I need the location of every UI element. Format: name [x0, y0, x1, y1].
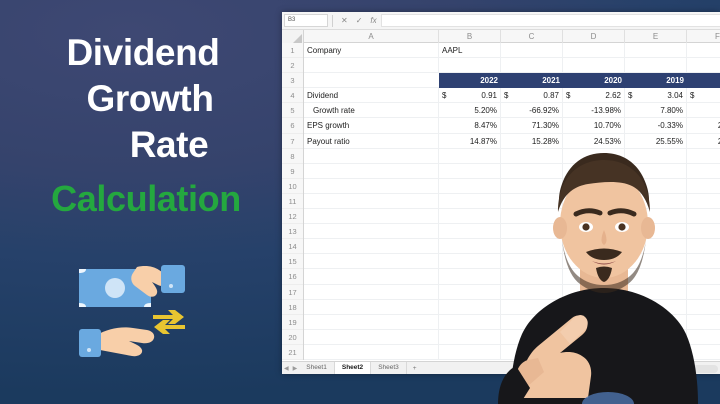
name-box[interactable]: B3 — [284, 14, 328, 27]
cell-f6[interactable]: 29.31% — [687, 118, 720, 133]
formula-input[interactable] — [381, 14, 720, 27]
cell-b6[interactable]: 8.47% — [439, 118, 501, 133]
cell-a2[interactable] — [304, 58, 439, 73]
row-header[interactable]: 8 — [282, 149, 303, 164]
row-header[interactable]: 13 — [282, 224, 303, 239]
currency-symbol: $ — [442, 88, 446, 103]
column-header-row: A B C D E F — [282, 30, 720, 43]
cell-e6[interactable]: -0.33% — [625, 118, 687, 133]
row-header[interactable]: 4 — [282, 88, 303, 103]
row-header[interactable]: 12 — [282, 209, 303, 224]
select-all-corner[interactable] — [282, 30, 304, 43]
cell-b2[interactable] — [439, 58, 501, 73]
cell-c4[interactable]: $ 0.87 — [501, 88, 563, 103]
cell-empty[interactable] — [304, 149, 439, 164]
cell-a1[interactable]: Company — [304, 43, 439, 58]
cell-e1[interactable] — [625, 43, 687, 58]
row-header[interactable]: 19 — [282, 315, 303, 330]
title-line-3: Rate — [0, 122, 282, 168]
currency-symbol: $ — [628, 88, 632, 103]
cell-f7[interactable]: 23.03% — [687, 134, 720, 149]
cell-b5[interactable]: 5.20% — [439, 103, 501, 118]
row-header[interactable]: 5 — [282, 103, 303, 118]
cell-empty[interactable] — [304, 285, 439, 300]
cell-value: 2.82 — [690, 88, 720, 103]
row-header[interactable]: 10 — [282, 179, 303, 194]
cell-e7[interactable]: 25.55% — [625, 134, 687, 149]
row-header[interactable]: 15 — [282, 254, 303, 269]
row-header[interactable]: 9 — [282, 164, 303, 179]
table-row: Dividend $ 0.91 $ 0.87 $ 2.62 $ 3.04 — [304, 88, 720, 103]
cell-empty[interactable] — [304, 269, 439, 284]
tab-nav-next-icon[interactable]: ▶ — [291, 365, 300, 372]
cell-f4[interactable]: $ 2.82 — [687, 88, 720, 103]
currency-symbol: $ — [566, 88, 570, 103]
cell-c5[interactable]: -66.92% — [501, 103, 563, 118]
cell-a6[interactable]: EPS growth — [304, 118, 439, 133]
cell-empty[interactable] — [304, 194, 439, 209]
formula-bar[interactable]: B3 ✕ ✓ fx — [282, 12, 720, 30]
row-header[interactable]: 20 — [282, 330, 303, 345]
cell-a4[interactable]: Dividend — [304, 88, 439, 103]
cell-value: 0.87 — [504, 88, 559, 103]
column-header-b[interactable]: B — [439, 30, 501, 43]
add-sheet-button[interactable]: + — [407, 365, 423, 372]
cell-e3[interactable]: 2019 — [625, 73, 687, 88]
presenter-image — [488, 148, 720, 404]
cell-empty[interactable] — [304, 209, 439, 224]
cell-b7[interactable]: 14.87% — [439, 134, 501, 149]
column-header-f[interactable]: F — [687, 30, 720, 43]
cell-empty[interactable] — [304, 224, 439, 239]
title-accent-line: Calculation — [0, 176, 282, 222]
cell-a5[interactable]: Growth rate — [304, 103, 439, 118]
cell-e2[interactable] — [625, 58, 687, 73]
cancel-icon[interactable]: ✕ — [337, 17, 352, 25]
row-header[interactable]: 7 — [282, 134, 303, 149]
row-header[interactable]: 16 — [282, 269, 303, 284]
sheet-tab-2[interactable]: Sheet2 — [335, 362, 371, 374]
cell-empty[interactable] — [304, 330, 439, 345]
confirm-icon[interactable]: ✓ — [352, 17, 367, 25]
row-header[interactable]: 1 — [282, 43, 303, 58]
cell-d6[interactable]: 10.70% — [563, 118, 625, 133]
table-row-year-header: 2022 2021 2020 2019 2018 — [304, 73, 720, 88]
row-header[interactable]: 11 — [282, 194, 303, 209]
cell-c2[interactable] — [501, 58, 563, 73]
cell-empty[interactable] — [304, 254, 439, 269]
cell-empty[interactable] — [304, 239, 439, 254]
cell-b3[interactable]: 2022 — [439, 73, 501, 88]
sheet-tab-1[interactable]: Sheet1 — [299, 362, 335, 374]
row-header[interactable]: 2 — [282, 58, 303, 73]
row-header[interactable]: 14 — [282, 239, 303, 254]
cell-d7[interactable]: 24.53% — [563, 134, 625, 149]
cell-value: 2.62 — [566, 88, 621, 103]
cell-d1[interactable] — [563, 43, 625, 58]
cell-d4[interactable]: $ 2.62 — [563, 88, 625, 103]
cell-e4[interactable]: $ 3.04 — [625, 88, 687, 103]
cell-empty[interactable] — [304, 179, 439, 194]
cell-b4[interactable]: $ 0.91 — [439, 88, 501, 103]
title-line-1: Dividend — [0, 30, 282, 76]
table-row: Payout ratio 14.87% 15.28% 24.53% 25.55%… — [304, 134, 720, 149]
row-header[interactable]: 6 — [282, 118, 303, 133]
tab-nav-first-icon[interactable]: ◀ — [282, 365, 291, 372]
cell-f2[interactable] — [687, 58, 720, 73]
cell-f1[interactable] — [687, 43, 720, 58]
row-header[interactable]: 18 — [282, 300, 303, 315]
cell-d3[interactable]: 2020 — [563, 73, 625, 88]
cell-c1[interactable] — [501, 43, 563, 58]
cell-empty[interactable] — [304, 164, 439, 179]
cell-empty[interactable] — [304, 345, 439, 360]
table-row — [304, 58, 720, 73]
cell-empty[interactable] — [304, 315, 439, 330]
table-row: Company AAPL — [304, 43, 720, 58]
currency-symbol: $ — [690, 88, 694, 103]
cell-value: 3.04 — [628, 88, 683, 103]
divider — [332, 15, 333, 27]
table-row: EPS growth 8.47% 71.30% 10.70% -0.33% 29… — [304, 118, 720, 133]
cell-value: 0.91 — [442, 88, 497, 103]
cell-b1[interactable]: AAPL — [439, 43, 501, 58]
column-header-c[interactable]: C — [501, 30, 563, 43]
cell-f3[interactable]: 2018 — [687, 73, 720, 88]
cell-e5[interactable]: 7.80% — [625, 103, 687, 118]
fx-icon[interactable]: fx — [366, 17, 380, 25]
cell-a3[interactable] — [304, 73, 439, 88]
cell-f5[interactable] — [687, 103, 720, 118]
title-block: Dividend Growth Rate Calculation — [0, 0, 282, 404]
table-row: Growth rate 5.20% -66.92% -13.98% 7.80% — [304, 103, 720, 118]
cell-c7[interactable]: 15.28% — [501, 134, 563, 149]
cell-c6[interactable]: 71.30% — [501, 118, 563, 133]
cell-c3[interactable]: 2021 — [501, 73, 563, 88]
sheet-tab-3[interactable]: Sheet3 — [371, 362, 407, 374]
column-header-d[interactable]: D — [563, 30, 625, 43]
column-header-e[interactable]: E — [625, 30, 687, 43]
title-line-2: Growth — [0, 76, 282, 122]
cell-d2[interactable] — [563, 58, 625, 73]
row-header[interactable]: 3 — [282, 73, 303, 88]
cell-a7[interactable]: Payout ratio — [304, 134, 439, 149]
row-header[interactable]: 21 — [282, 345, 303, 360]
column-header-a[interactable]: A — [304, 30, 439, 43]
row-header-column: 1 2 3 4 5 6 7 8 9 10 11 12 13 14 15 16 1… — [282, 43, 304, 360]
row-header[interactable]: 17 — [282, 285, 303, 300]
currency-symbol: $ — [504, 88, 508, 103]
cell-d5[interactable]: -13.98% — [563, 103, 625, 118]
cell-empty[interactable] — [304, 300, 439, 315]
